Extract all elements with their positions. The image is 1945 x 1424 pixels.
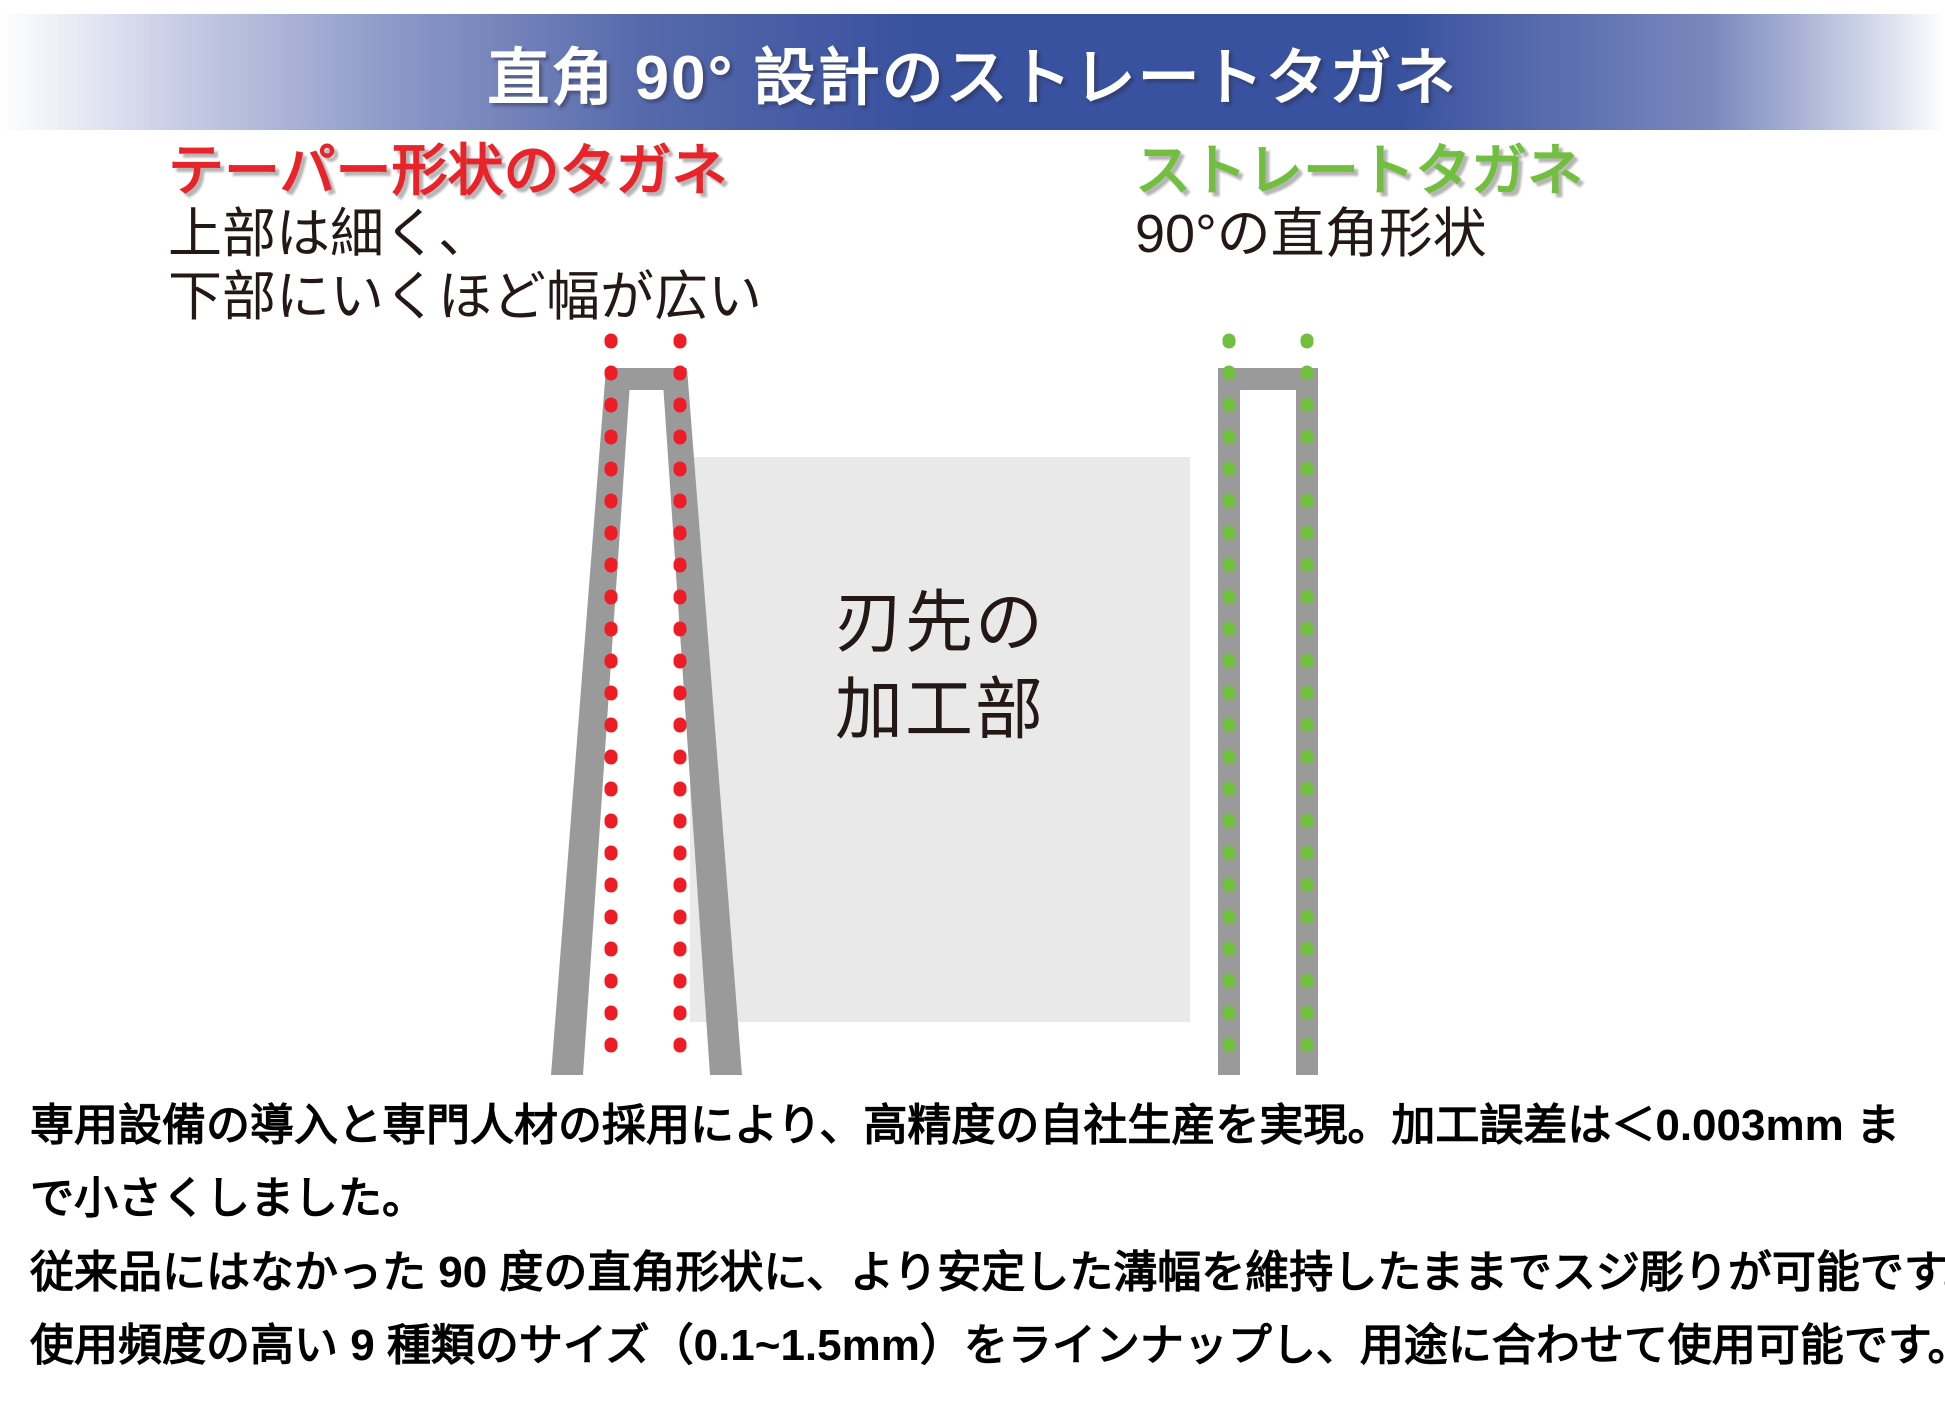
callout-taper: テーパー形状のタガネ 上部は細く、 下部にいくほど幅が広い bbox=[168, 140, 762, 330]
body-copy-line4: 使用頻度の高い 9 種類のサイズ（0.1~1.5mm）をラインナップし、用途に合… bbox=[30, 1310, 1920, 1381]
page-title: 直角 90° 設計のストレートタガネ bbox=[0, 14, 1945, 130]
callout-taper-line2: 下部にいくほど幅が広い bbox=[168, 266, 762, 330]
callout-taper-line1: 上部は細く、 bbox=[168, 203, 762, 267]
body-copy-line3: 従来品にはなかった 90 度の直角形状に、より安定した溝幅を維持したままでスジ彫… bbox=[30, 1237, 1920, 1308]
taper-chisel-left-leg bbox=[551, 368, 631, 1075]
chisel-shapes-svg bbox=[0, 330, 1945, 1090]
callout-straight-heading: ストレートタガネ bbox=[1135, 140, 1583, 203]
body-copy-line1: 専用設備の導入と専門人材の採用により、高精度の自社生産を実現。加工誤差は＜0.0… bbox=[30, 1090, 1920, 1161]
chisel-comparison-diagram: 刃先の 加工部 bbox=[0, 330, 1945, 1090]
infographic-page: 直角 90° 設計のストレートタガネ テーパー形状のタガネ 上部は細く、 下部に… bbox=[0, 0, 1945, 1424]
body-copy-line2: で小さくしました。 bbox=[30, 1163, 1920, 1234]
body-copy: 専用設備の導入と専門人材の採用により、高精度の自社生産を実現。加工誤差は＜0.0… bbox=[30, 1090, 1920, 1383]
callout-straight: ストレートタガネ 90°の直角形状 bbox=[1135, 140, 1583, 266]
callout-straight-line1: 90°の直角形状 bbox=[1135, 203, 1583, 267]
callout-taper-heading: テーパー形状のタガネ bbox=[168, 140, 762, 203]
